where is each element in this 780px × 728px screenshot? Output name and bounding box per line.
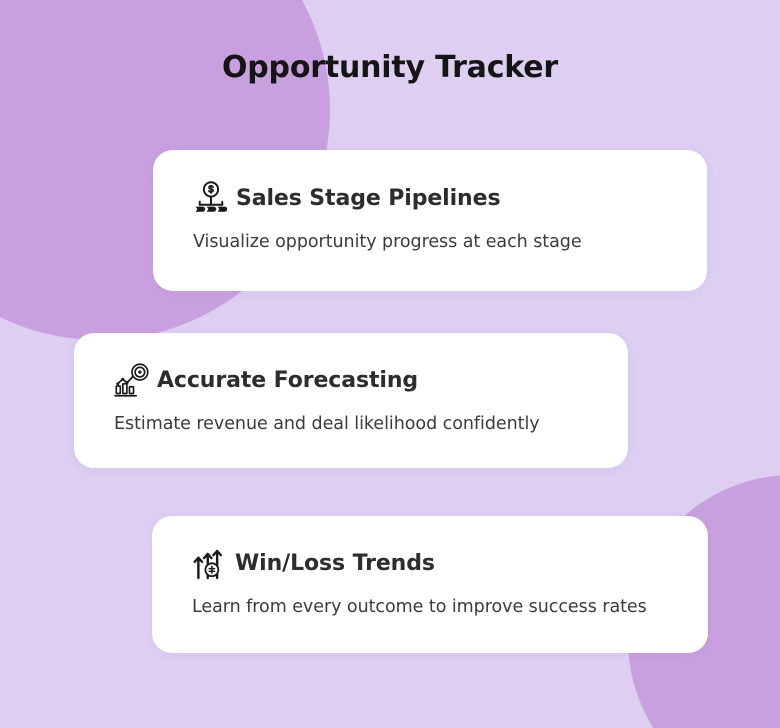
page-title: Opportunity Tracker: [0, 50, 780, 85]
slide-canvas: Opportunity Tracker Sales Stage Pipeline…: [0, 0, 780, 728]
card-header: Win/Loss Trends: [192, 545, 708, 581]
card-header: Accurate Forecasting: [114, 362, 628, 398]
feature-card-accurate-forecasting: Accurate Forecasting Estimate revenue an…: [74, 333, 628, 468]
dollar-pipeline-icon: [193, 180, 229, 216]
up-arrows-trend-icon: [192, 545, 228, 581]
feature-card-sales-stage-pipelines: Sales Stage Pipelines Visualize opportun…: [153, 150, 707, 291]
feature-card-win-loss-trends: Win/Loss Trends Learn from every outcome…: [152, 516, 708, 653]
card-description: Learn from every outcome to improve succ…: [192, 597, 708, 617]
card-title: Accurate Forecasting: [157, 368, 418, 393]
bar-chart-target-icon: [114, 362, 150, 398]
card-description: Visualize opportunity progress at each s…: [193, 232, 707, 252]
card-title: Win/Loss Trends: [235, 551, 435, 576]
card-title: Sales Stage Pipelines: [236, 186, 500, 211]
card-description: Estimate revenue and deal likelihood con…: [114, 414, 628, 434]
card-header: Sales Stage Pipelines: [193, 180, 707, 216]
